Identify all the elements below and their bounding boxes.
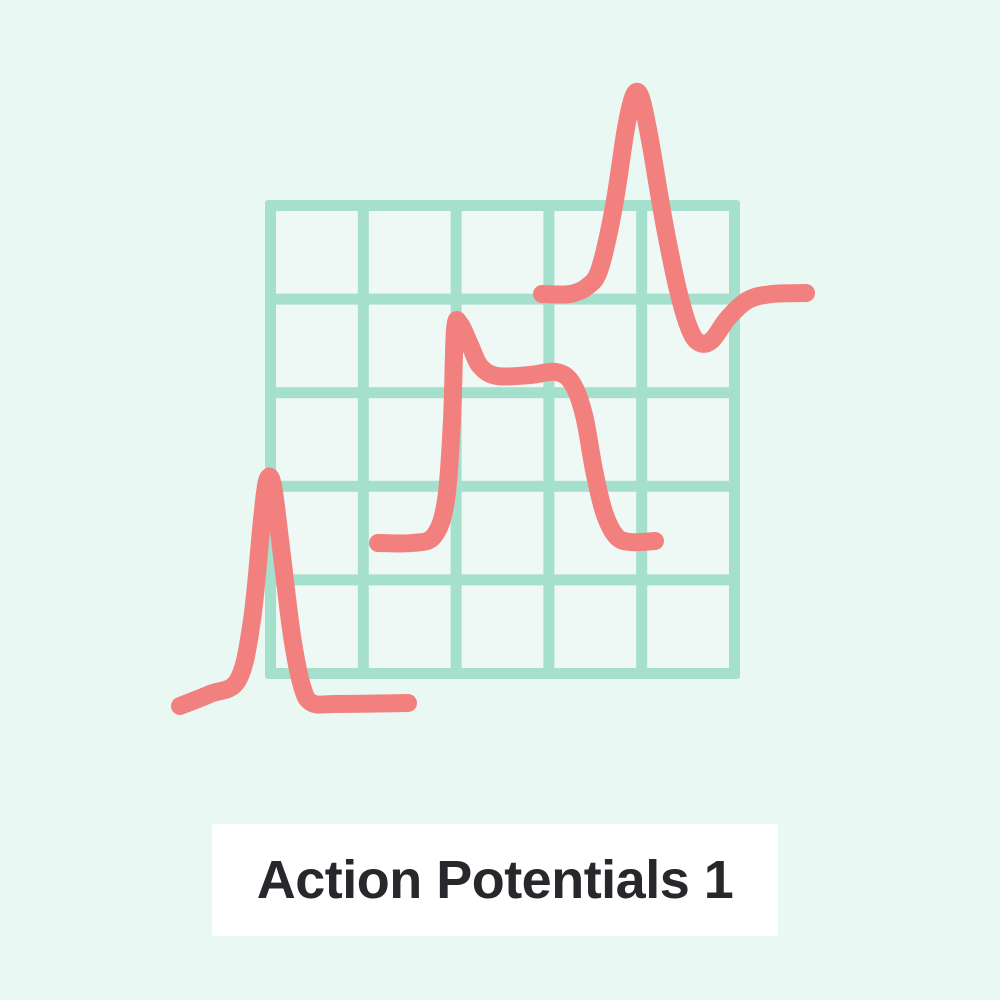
grid-cell (554, 585, 636, 668)
grid-cell (462, 492, 544, 575)
grid-cell (276, 305, 358, 388)
grid-cell (647, 398, 729, 481)
grid-cell (369, 398, 451, 481)
grid-cell (462, 398, 544, 481)
page-title: Action Potentials 1 (257, 853, 734, 907)
action-potentials-illustration-card: Action Potentials 1 (0, 0, 1000, 1000)
grid-cell (276, 211, 358, 294)
grid-cell (369, 305, 451, 388)
title-plate: Action Potentials 1 (212, 824, 778, 936)
grid-cell (462, 211, 544, 294)
grid-cell (369, 585, 451, 668)
grid-cell (276, 398, 358, 481)
grid-cell (647, 585, 729, 668)
grid-cell (647, 492, 729, 575)
grid-cell (369, 211, 451, 294)
grid-cell (462, 585, 544, 668)
